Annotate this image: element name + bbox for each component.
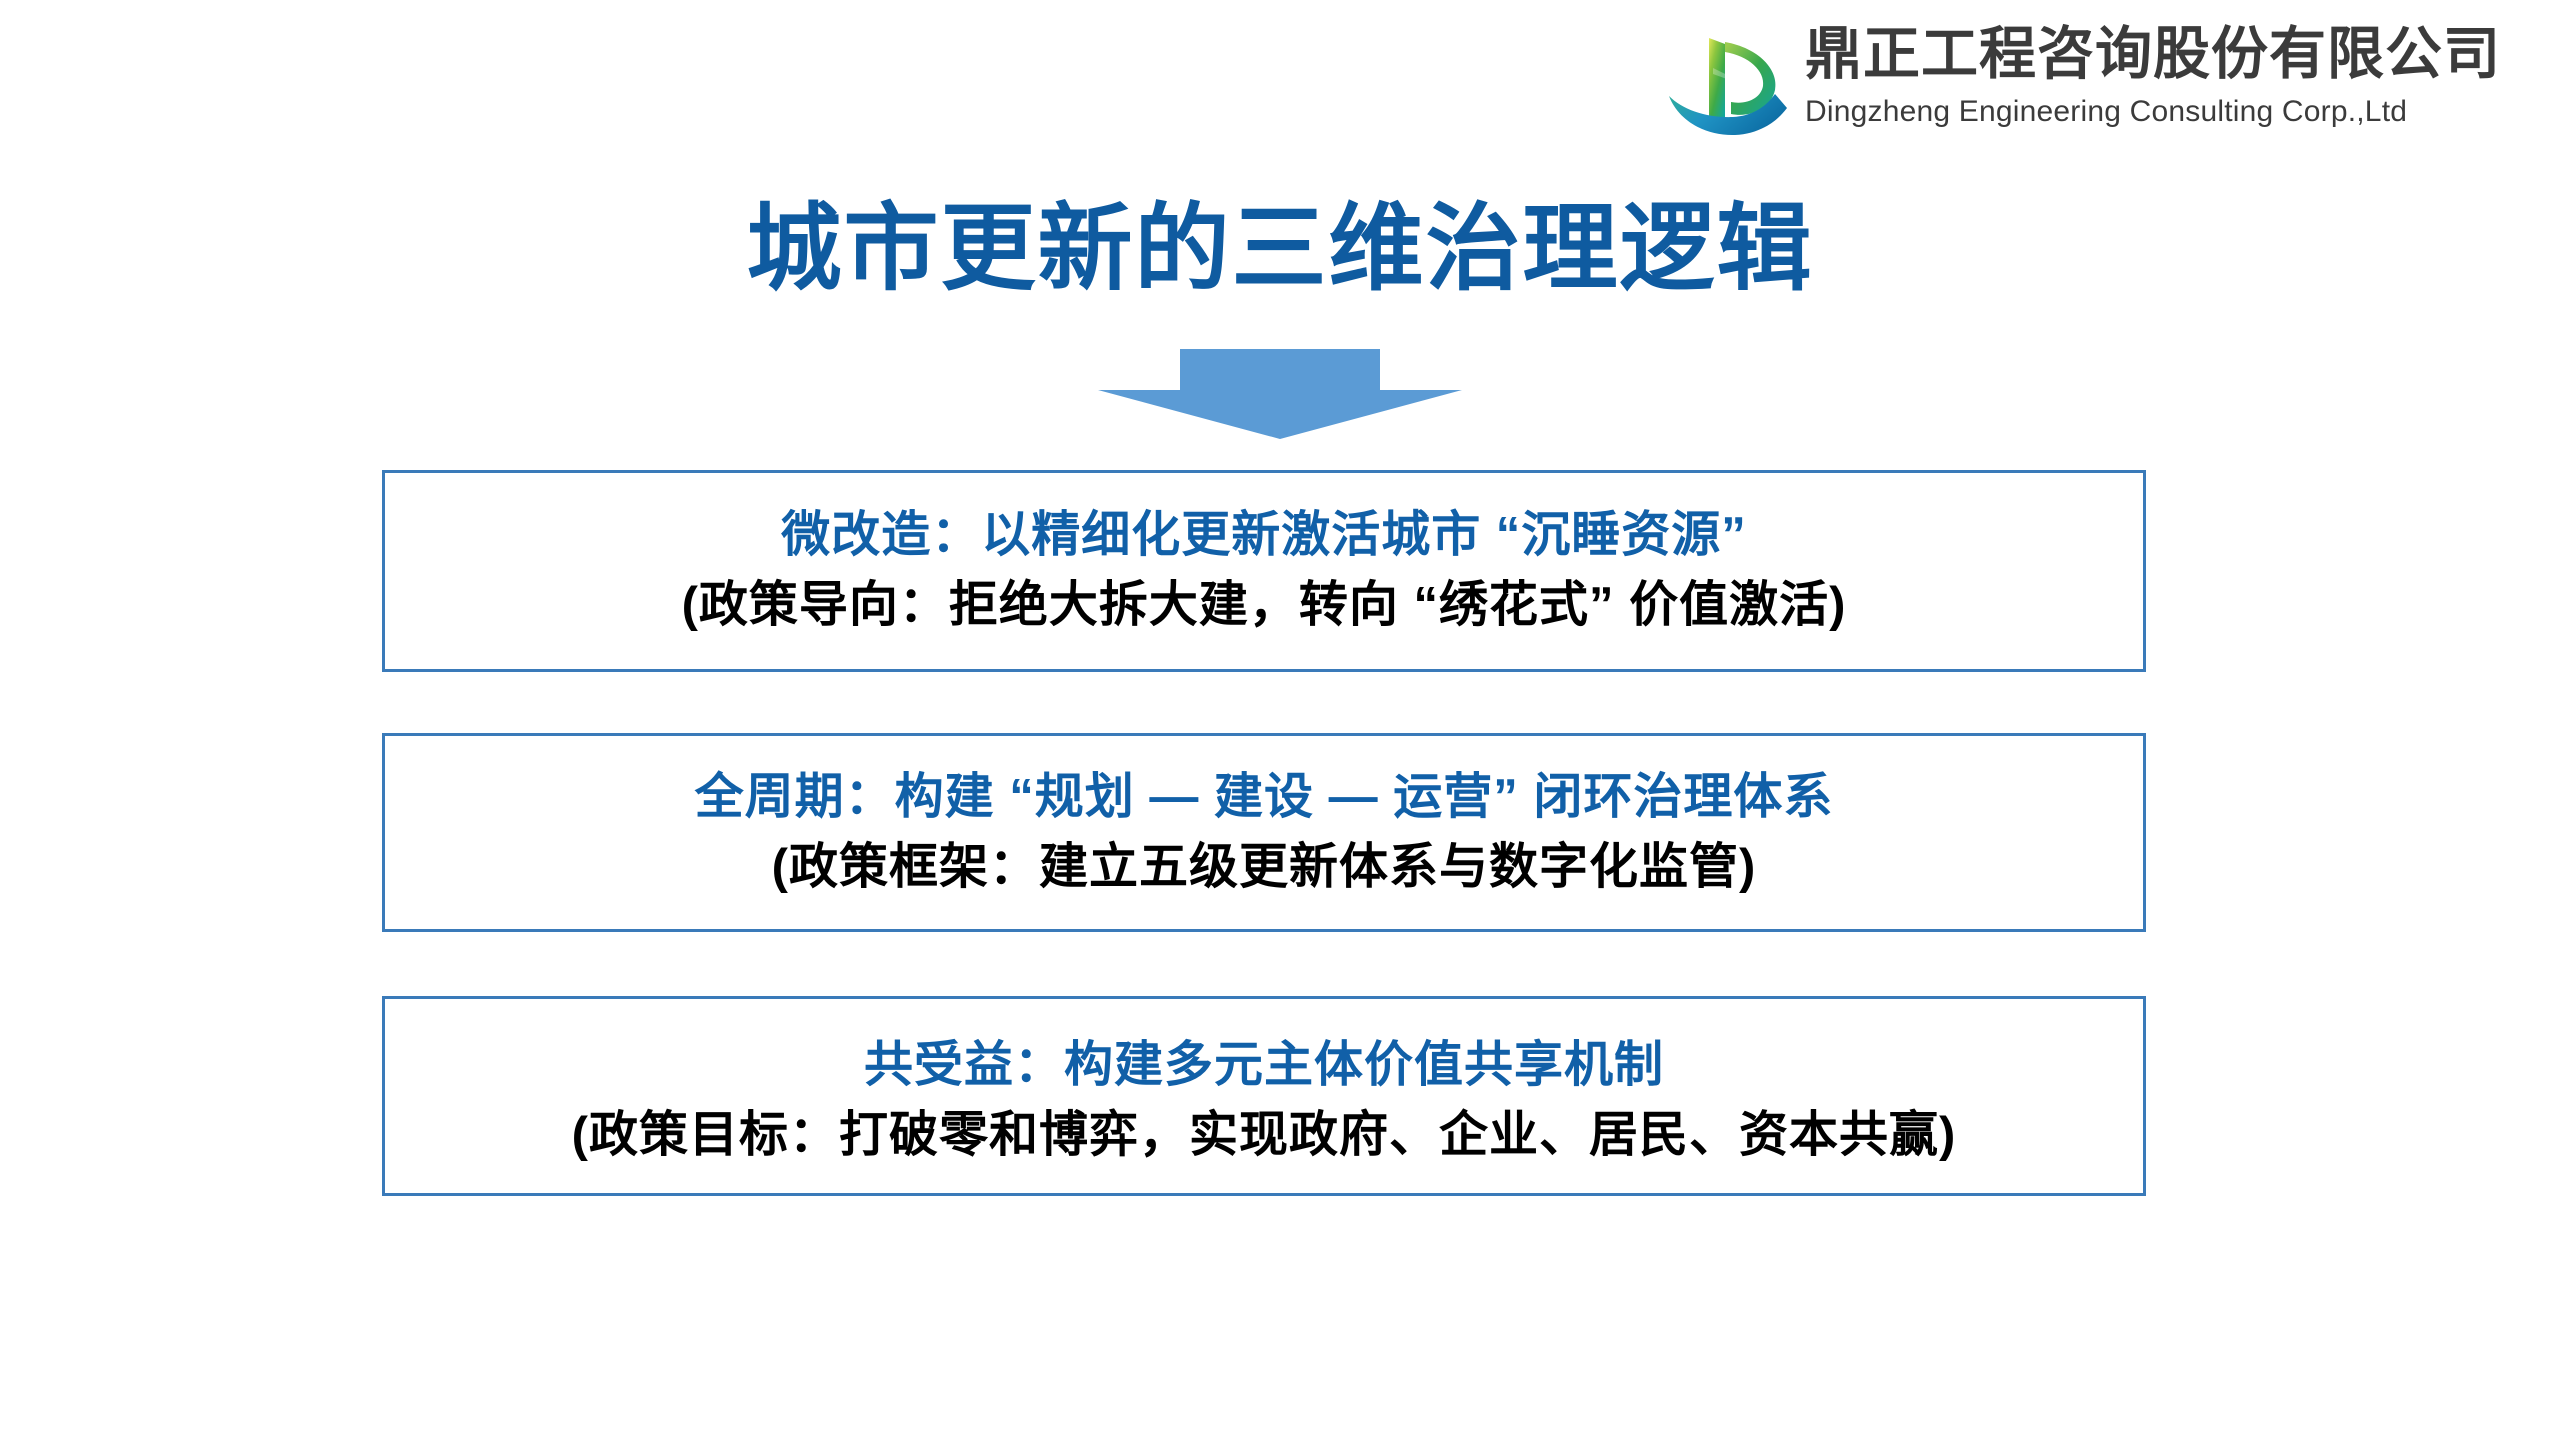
box-secondary-line: (政策目标：打破零和博弈，实现政府、企业、居民、资本共赢) <box>572 1104 1957 1168</box>
box-secondary-line: (政策导向：拒绝大拆大建，转向 “绣花式” 价值激活) <box>682 574 1847 638</box>
box-primary-line: 全周期：构建 “规划 — 建设 — 运营” 闭环治理体系 <box>695 766 1834 830</box>
brand-text-block: 鼎正工程咨询股份有限公司 Dingzheng Engineering Consu… <box>1805 24 2501 128</box>
box-secondary-line: (政策框架：建立五级更新体系与数字化监管) <box>772 836 1757 900</box>
content-box-micro-renewal: 微改造：以精细化更新激活城市 “沉睡资源” (政策导向：拒绝大拆大建，转向 “绣… <box>382 470 2146 672</box>
content-box-full-cycle: 全周期：构建 “规划 — 建设 — 运营” 闭环治理体系 (政策框架：建立五级更… <box>382 733 2146 932</box>
company-name-cn: 鼎正工程咨询股份有限公司 <box>1805 24 2501 86</box>
box-primary-line: 共受益：构建多元主体价值共享机制 <box>864 1034 1664 1098</box>
page-title: 城市更新的三维治理逻辑 <box>0 195 2560 304</box>
box-primary-line: 微改造：以精细化更新激活城市 “沉睡资源” <box>781 504 1747 568</box>
company-name-en: Dingzheng Engineering Consulting Corp.,L… <box>1805 95 2501 128</box>
brand-header: 鼎正工程咨询股份有限公司 Dingzheng Engineering Consu… <box>1663 14 2501 138</box>
dingzheng-d-leaf-logo-icon <box>1663 14 1791 138</box>
content-box-shared-benefit: 共受益：构建多元主体价值共享机制 (政策目标：打破零和博弈，实现政府、企业、居民… <box>382 996 2146 1196</box>
slide-canvas: 鼎正工程咨询股份有限公司 Dingzheng Engineering Consu… <box>0 0 2560 1440</box>
